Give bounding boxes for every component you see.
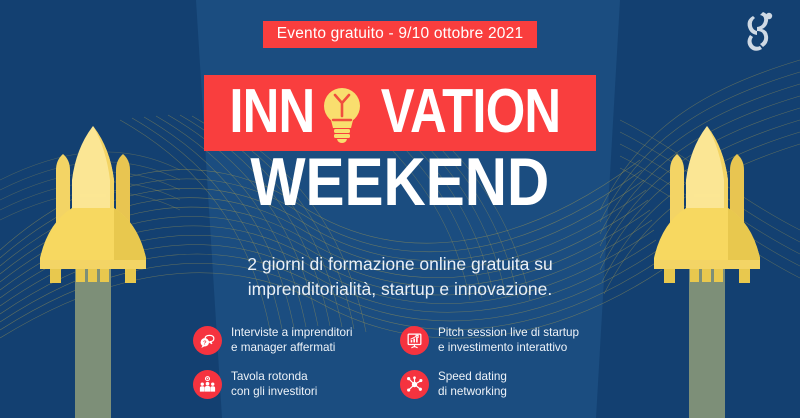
subtitle: 2 giorni di formazione online gratuita s… <box>0 252 800 302</box>
feature-list: ? Interviste a imprenditori e manager af… <box>193 318 623 406</box>
feature-line-1: Speed dating <box>438 369 507 384</box>
subtitle-line-2: imprenditorialità, startup e innovazione… <box>0 277 800 302</box>
date-banner-text: Evento gratuito - 9/10 ottobre 2021 <box>263 21 538 48</box>
date-banner: Evento gratuito - 9/10 ottobre 2021 <box>0 21 800 48</box>
lightbulb-icon <box>320 82 364 144</box>
feature-text: Interviste a imprenditori e manager affe… <box>231 325 352 356</box>
title-weekend-text: WEEKEND <box>251 148 550 216</box>
svg-text:?: ? <box>203 340 207 346</box>
title-weekend: WEEKEND <box>0 148 800 216</box>
feature-line-1: Tavola rotonda <box>231 369 317 384</box>
people-group-icon <box>193 370 222 399</box>
feature-line-2: di networking <box>438 384 507 399</box>
feature-item-interviste: ? Interviste a imprenditori e manager af… <box>193 318 400 362</box>
title-part-1: INN <box>229 81 314 143</box>
feature-line-1: Pitch session live di startup <box>438 325 579 340</box>
feature-line-2: e investimento interattivo <box>438 340 579 355</box>
speech-bubbles-question-icon: ? <box>193 326 222 355</box>
subtitle-line-1: 2 giorni di formazione online gratuita s… <box>0 252 800 277</box>
poster-root: Evento gratuito - 9/10 ottobre 2021 INN … <box>0 0 800 418</box>
presentation-chart-icon <box>400 326 429 355</box>
feature-text: Speed dating di networking <box>438 369 507 400</box>
feature-text: Pitch session live di startup e investim… <box>438 325 579 356</box>
title-red-block: INN VATION <box>204 75 597 151</box>
feature-line-2: e manager affermati <box>231 340 352 355</box>
feature-text: Tavola rotonda con gli investitori <box>231 369 317 400</box>
network-nodes-icon <box>400 370 429 399</box>
feature-item-speed-dating: Speed dating di networking <box>400 362 623 406</box>
feature-item-pitch: Pitch session live di startup e investim… <box>400 318 623 362</box>
title-part-2: VATION <box>381 81 561 143</box>
feature-line-1: Interviste a imprenditori <box>231 325 352 340</box>
feature-line-2: con gli investitori <box>231 384 317 399</box>
title-innovation: INN VATION <box>0 75 800 151</box>
feature-item-tavola-rotonda: Tavola rotonda con gli investitori <box>193 362 400 406</box>
